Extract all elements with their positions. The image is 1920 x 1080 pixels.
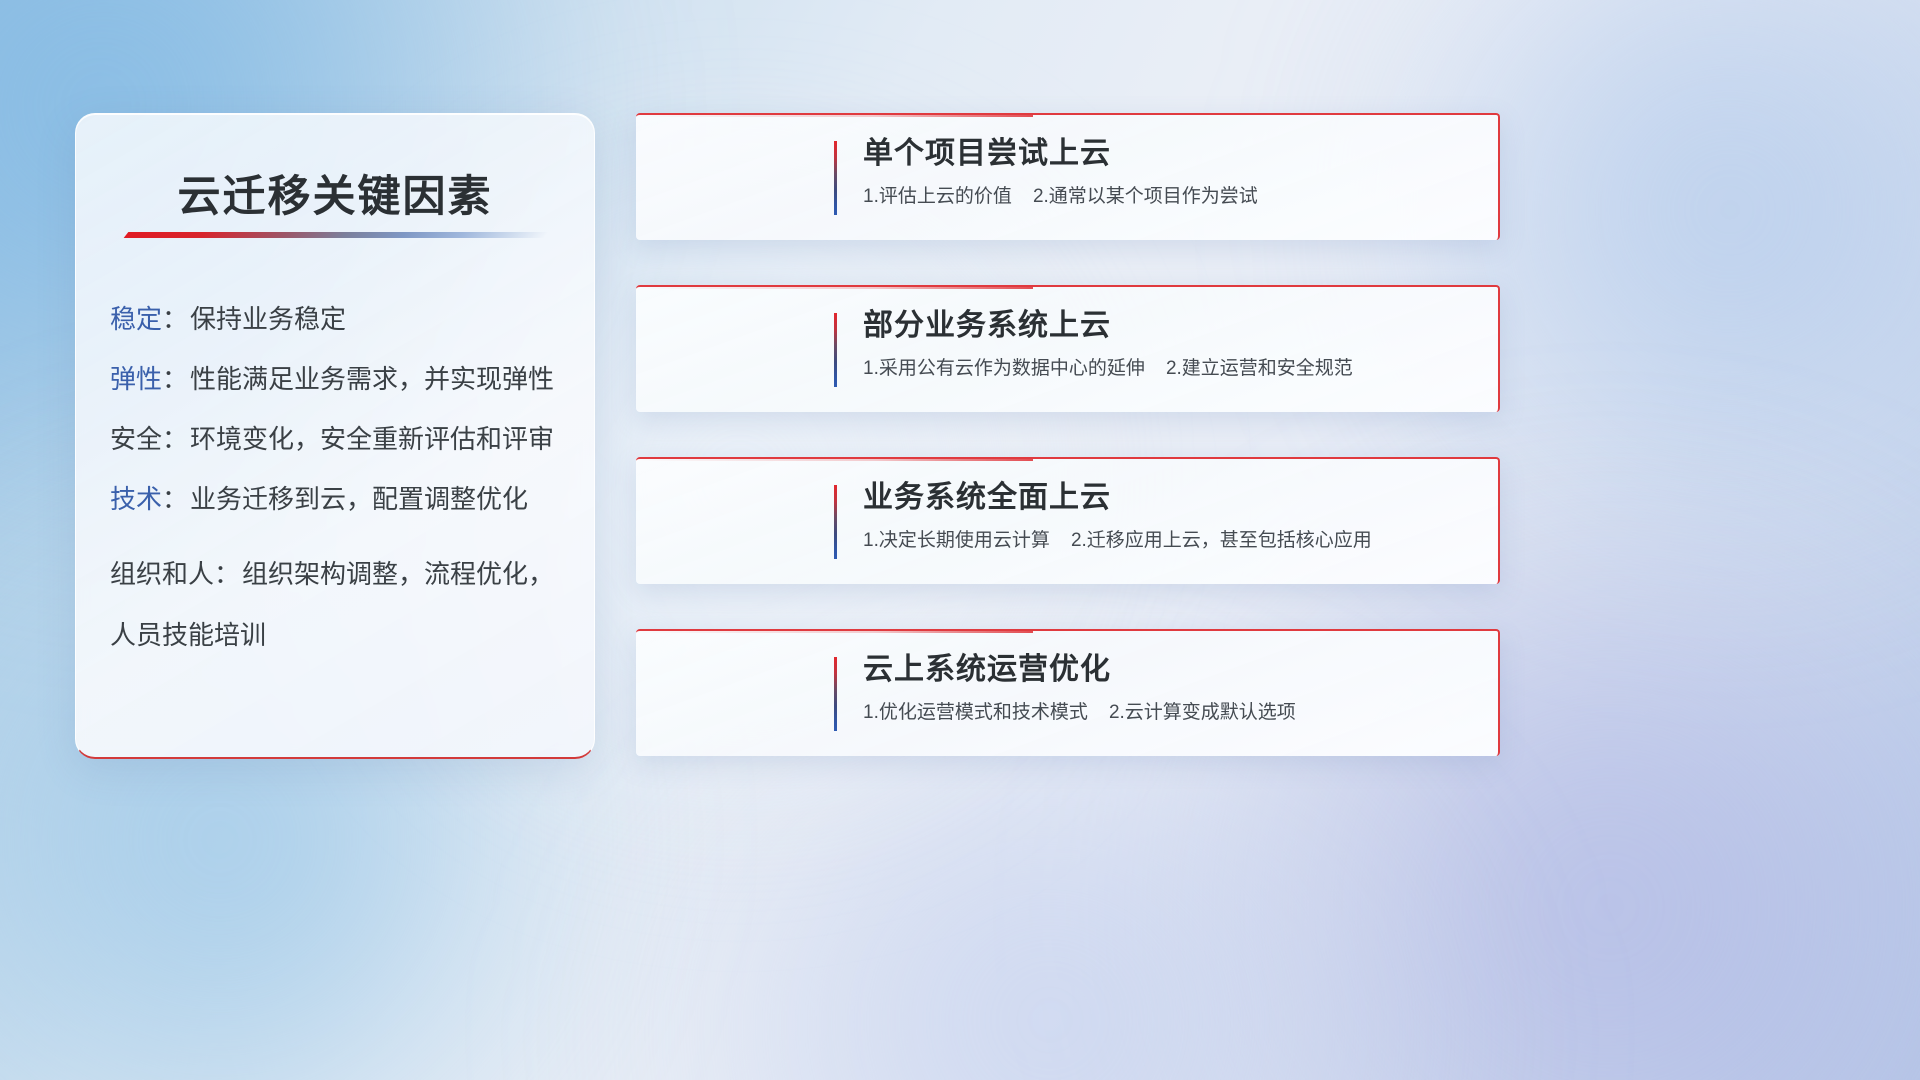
factor-label: 技术	[110, 484, 162, 514]
factor-text: 保持业务稳定	[190, 304, 346, 334]
factor-text: 业务迁移到云，配置调整优化	[190, 484, 528, 514]
list-item: 技术：业务迁移到云，配置调整优化	[108, 484, 574, 514]
list-item: 弹性：性能满足业务需求，并实现弹性	[108, 364, 574, 394]
step-content: 单个项目尝试上云 1.评估上云的价值 2.通常以某个项目作为尝试	[863, 137, 1478, 209]
step-divider-accent	[834, 657, 837, 731]
step-title: 部分业务系统上云	[863, 309, 1478, 343]
step-title: 云上系统运营优化	[863, 653, 1478, 687]
step-card[interactable]: 01 单个项目尝试上云 1.评估上云的价值 2.通常以某个项目作为尝试	[636, 113, 1500, 240]
key-factors-panel: 云迁移关键因素 稳定：保持业务稳定 弹性：性能满足业务需求，并实现弹性 安全：环…	[75, 113, 595, 759]
step-description: 1.评估上云的价值 2.通常以某个项目作为尝试	[863, 185, 1478, 209]
factor-label: 弹性	[110, 364, 162, 394]
factor-text: 性能满足业务需求，并实现弹性	[190, 364, 554, 394]
step-divider-accent	[834, 141, 837, 215]
factor-label: 安全	[110, 424, 162, 454]
background-gradient-blob	[1120, 520, 1920, 1080]
step-divider-accent	[834, 313, 837, 387]
step-content: 业务系统全面上云 1.决定长期使用云计算 2.迁移应用上云，甚至包括核心应用	[863, 481, 1478, 553]
factor-colon: ：	[162, 364, 188, 394]
step-content: 部分业务系统上云 1.采用公有云作为数据中心的延伸 2.建立运营和安全规范	[863, 309, 1478, 381]
list-item: 组织和人：组织架构调整，流程优化，人员技能培训	[108, 544, 574, 666]
step-number-watermark: 02	[658, 302, 773, 398]
slide-canvas: 云迁移关键因素 稳定：保持业务稳定 弹性：性能满足业务需求，并实现弹性 安全：环…	[0, 0, 1920, 1080]
step-description: 1.优化运营模式和技术模式 2.云计算变成默认选项	[863, 701, 1478, 725]
step-number-watermark: 04	[658, 646, 773, 742]
factor-label: 组织和人	[110, 559, 214, 589]
title-underline-accent	[124, 232, 549, 238]
factor-colon: ：	[214, 559, 240, 589]
step-description: 1.采用公有云作为数据中心的延伸 2.建立运营和安全规范	[863, 357, 1478, 381]
page-title: 云迁移关键因素	[76, 162, 594, 224]
step-divider-accent	[834, 485, 837, 559]
list-item: 稳定：保持业务稳定	[108, 304, 574, 334]
step-card[interactable]: 02 部分业务系统上云 1.采用公有云作为数据中心的延伸 2.建立运营和安全规范	[636, 285, 1500, 412]
step-content: 云上系统运营优化 1.优化运营模式和技术模式 2.云计算变成默认选项	[863, 653, 1478, 725]
step-card[interactable]: 04 云上系统运营优化 1.优化运营模式和技术模式 2.云计算变成默认选项	[636, 629, 1500, 756]
step-title: 业务系统全面上云	[863, 481, 1478, 515]
step-number-watermark: 03	[658, 474, 773, 570]
factor-colon: ：	[162, 304, 188, 334]
factor-colon: ：	[162, 484, 188, 514]
factor-colon: ：	[162, 424, 188, 454]
step-number-watermark: 01	[658, 130, 773, 226]
key-factors-list: 稳定：保持业务稳定 弹性：性能满足业务需求，并实现弹性 安全：环境变化，安全重新…	[108, 304, 574, 666]
factor-label: 稳定	[110, 304, 162, 334]
list-item: 安全：环境变化，安全重新评估和评审	[108, 424, 574, 454]
step-description: 1.决定长期使用云计算 2.迁移应用上云，甚至包括核心应用	[863, 529, 1478, 553]
step-card[interactable]: 03 业务系统全面上云 1.决定长期使用云计算 2.迁移应用上云，甚至包括核心应…	[636, 457, 1500, 584]
step-title: 单个项目尝试上云	[863, 137, 1478, 171]
factor-text: 环境变化，安全重新评估和评审	[190, 424, 554, 454]
background-gradient-blob	[600, 740, 1500, 1080]
